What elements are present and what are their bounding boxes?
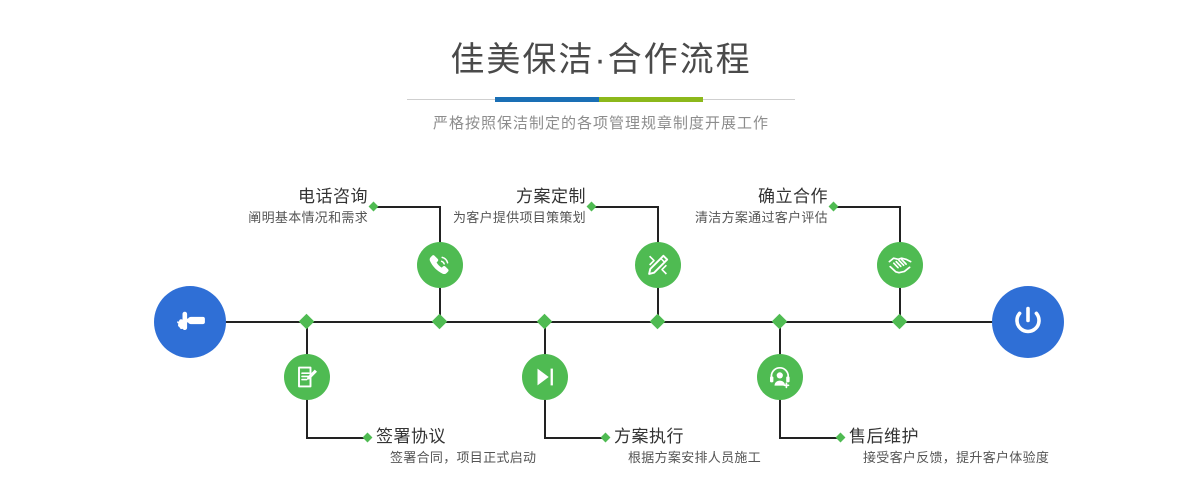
step-label-4: 方案执行 根据方案安排人员施工: [614, 426, 874, 468]
connector-horizontal-step-4: [544, 437, 606, 439]
flow-start-node[interactable]: [154, 286, 226, 358]
phone-call-icon: [427, 252, 453, 278]
step-desc-2: 签署合同，项目正式启动: [376, 448, 636, 468]
timeline-marker-step-1: [432, 314, 448, 330]
handshake-icon: [887, 252, 913, 278]
pencil-design-icon: [645, 252, 671, 278]
step-desc-3: 为客户提供项目策策划: [386, 208, 586, 228]
play-execute-icon: [532, 364, 558, 390]
timeline-marker-step-4: [537, 314, 553, 330]
step-desc-4: 根据方案安排人员施工: [614, 448, 874, 468]
step-desc-6: 接受客户反馈，提升客户体验度: [849, 448, 1149, 468]
step-icon-5[interactable]: [877, 242, 923, 288]
connector-horizontal-step-1: [374, 206, 440, 208]
step-icon-2[interactable]: [284, 354, 330, 400]
timeline-marker-step-2: [299, 314, 315, 330]
timeline-marker-step-6: [772, 314, 788, 330]
customer-support-icon: [767, 364, 793, 390]
connector-horizontal-step-2: [306, 437, 368, 439]
step-title-3: 方案定制: [386, 186, 586, 208]
connector-horizontal-step-3: [592, 206, 658, 208]
flow-end-node[interactable]: [992, 286, 1064, 358]
step-icon-1[interactable]: [417, 242, 463, 288]
step-icon-3[interactable]: [635, 242, 681, 288]
step-icon-6[interactable]: [757, 354, 803, 400]
label-marker-step-2: [363, 433, 373, 443]
step-title-6: 售后维护: [849, 426, 1149, 448]
label-marker-step-3: [587, 202, 597, 212]
connector-horizontal-step-5: [834, 206, 900, 208]
document-edit-icon: [294, 364, 320, 390]
label-marker-step-5: [829, 202, 839, 212]
timeline-marker-step-5: [892, 314, 908, 330]
step-icon-4[interactable]: [522, 354, 568, 400]
pointing-hand-icon: [170, 302, 210, 342]
label-marker-step-1: [369, 202, 379, 212]
process-timeline: 电话咨询 阐明基本情况和需求 签署协议 签署合同，项目正式启动: [0, 0, 1202, 502]
timeline-marker-step-3: [650, 314, 666, 330]
connector-horizontal-step-6: [779, 437, 841, 439]
step-title-5: 确立合作: [628, 186, 828, 208]
step-label-6: 售后维护 接受客户反馈，提升客户体验度: [849, 426, 1149, 468]
step-label-1: 电话咨询 阐明基本情况和需求: [168, 186, 368, 228]
power-icon: [1007, 301, 1049, 343]
flow-diagram-page: 佳美保洁·合作流程 严格按照保洁制定的各项管理规章制度开展工作: [0, 0, 1202, 502]
step-desc-1: 阐明基本情况和需求: [168, 208, 368, 228]
step-label-2: 签署协议 签署合同，项目正式启动: [376, 426, 636, 468]
step-title-1: 电话咨询: [168, 186, 368, 208]
